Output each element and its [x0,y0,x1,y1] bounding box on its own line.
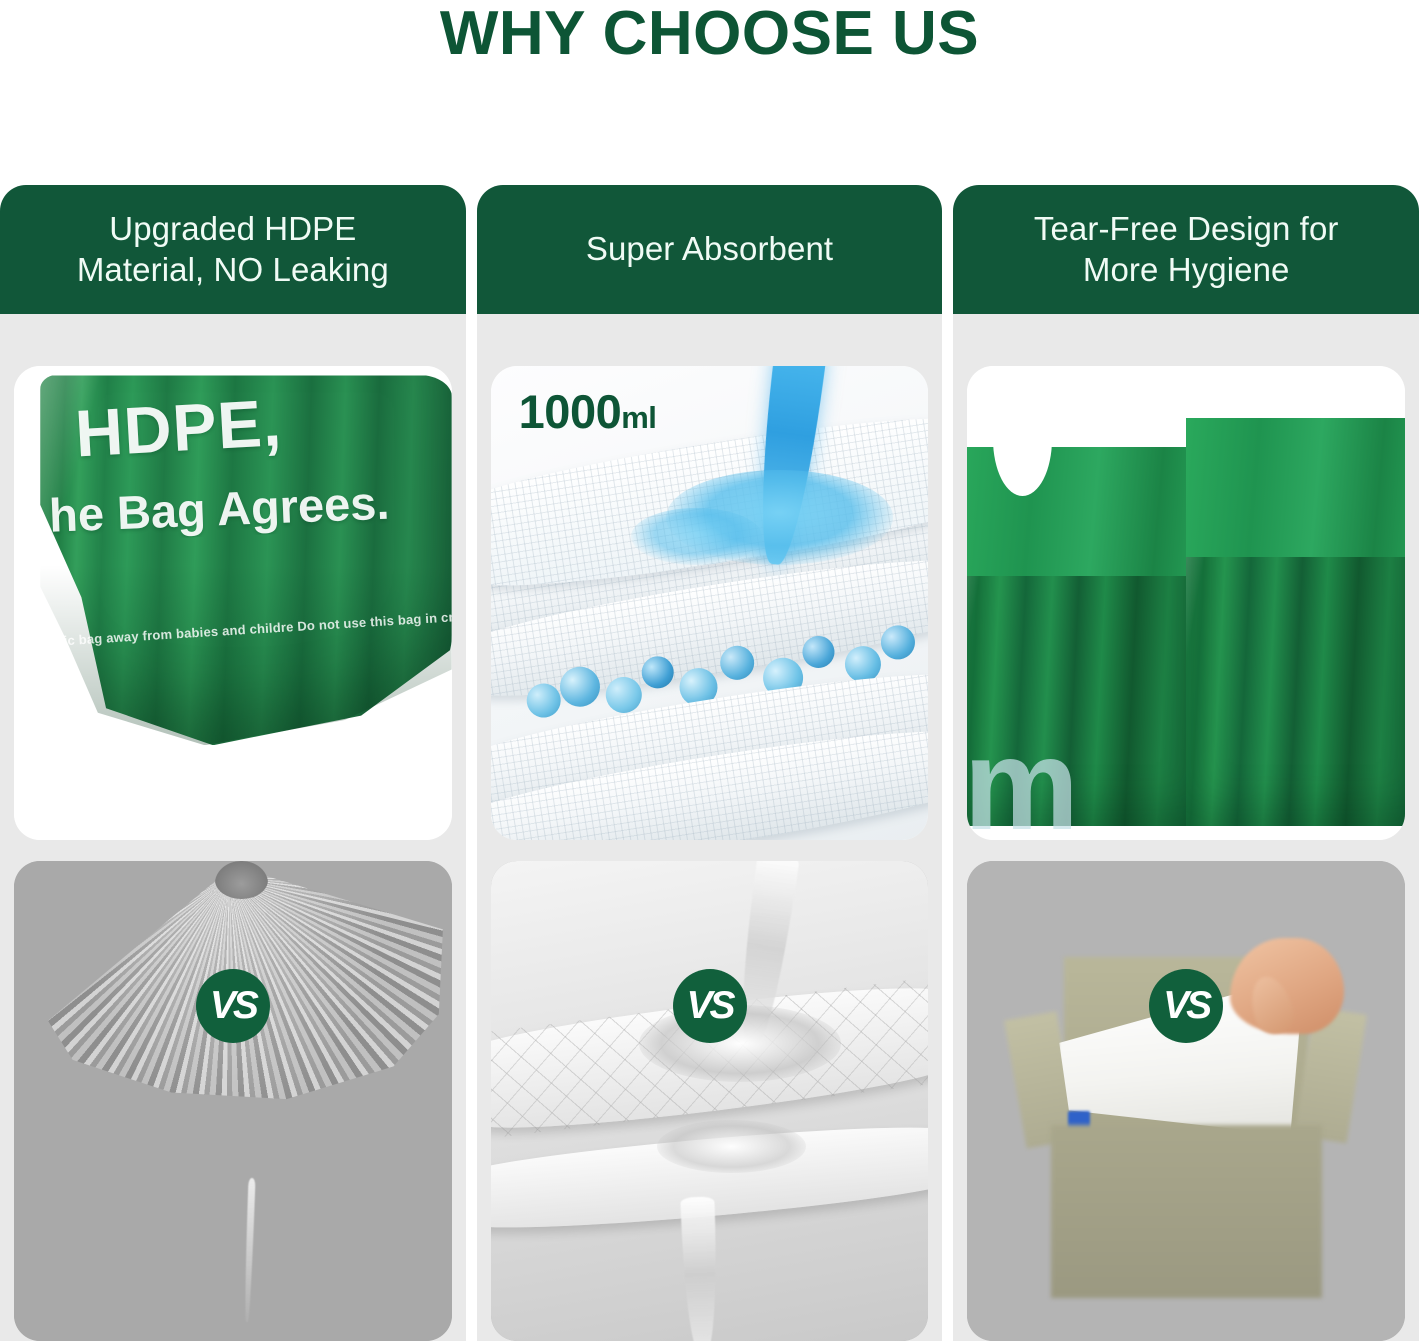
blue-water-splash [631,508,762,565]
product-photo-card: m [967,366,1405,840]
notched-green-bags-photo: m [967,366,1405,840]
column-header-label: Super Absorbent [586,229,833,269]
column-body-super-absorbent: 1000ml [477,314,943,1341]
vs-badge: VS [196,969,270,1043]
column-header-label: Upgraded HDPE Material, NO Leaking [77,209,389,290]
absorbent-layers-photo: 1000ml [491,366,929,840]
column-header-hdpe-material: Upgraded HDPE Material, NO Leaking [0,185,466,314]
column-super-absorbent: Super Absorbent 1000ml [477,185,943,1341]
column-body-hdpe-material: HDPE, he Bag Agrees. plastic bag away fr… [0,314,466,1341]
green-hdpe-bag-photo: HDPE, he Bag Agrees. plastic bag away fr… [14,366,452,840]
comparison-columns: Upgraded HDPE Material, NO Leaking HDPE,… [0,185,1419,1341]
capacity-unit: ml [621,400,656,435]
water-leak-stream [243,1178,255,1322]
column-hdpe-material: Upgraded HDPE Material, NO Leaking HDPE,… [0,185,466,1341]
bag-shading [40,565,451,745]
column-header-label: Tear-Free Design for More Hygiene [1034,209,1339,290]
gel-bead [718,644,757,683]
bag-top-band [1186,418,1405,557]
gel-bead [801,634,838,671]
column-header-tear-free-design: Tear-Free Design for More Hygiene [953,185,1419,314]
water-stream-lower [681,1196,720,1341]
water-passthrough-photo [491,861,929,1341]
capacity-value: 1000 [519,385,622,438]
capacity-label: 1000ml [519,384,657,439]
comparison-photo-card [491,861,929,1341]
bag-print-letter: m [967,719,1079,840]
gel-bead [558,664,604,710]
vs-badge-label: VS [1163,986,1209,1025]
hand-pulling-liner-photo [967,861,1405,1341]
gray-leaking-bag-photo [14,861,452,1341]
column-body-tear-free-design: m VS [953,314,1419,1341]
vs-badge: VS [1149,969,1223,1043]
product-photo-card: HDPE, he Bag Agrees. plastic bag away fr… [14,366,452,840]
gel-bead [879,622,918,661]
box-front-panel [1051,1125,1322,1298]
vs-badge-label: VS [686,986,732,1025]
bag-gather-knot [215,861,268,899]
gel-bead [640,653,677,690]
product-photo-card: 1000ml [491,366,929,840]
gel-bead [604,674,645,715]
bag-sheet-right [1186,418,1405,826]
vs-badge: VS [673,969,747,1043]
why-choose-us-infographic: WHY CHOOSE US Upgraded HDPE Material, NO… [0,0,1419,1341]
water-pool-under-pad [657,1120,806,1173]
column-tear-free-design: Tear-Free Design for More Hygiene m [953,185,1419,1341]
bag-sheet-left: m [967,447,1203,826]
comparison-photo-card [14,861,452,1341]
page-title: WHY CHOOSE US [0,0,1419,72]
vs-badge-label: VS [210,986,256,1025]
gel-bead [525,681,564,720]
column-header-super-absorbent: Super Absorbent [477,185,943,314]
comparison-photo-card [967,861,1405,1341]
